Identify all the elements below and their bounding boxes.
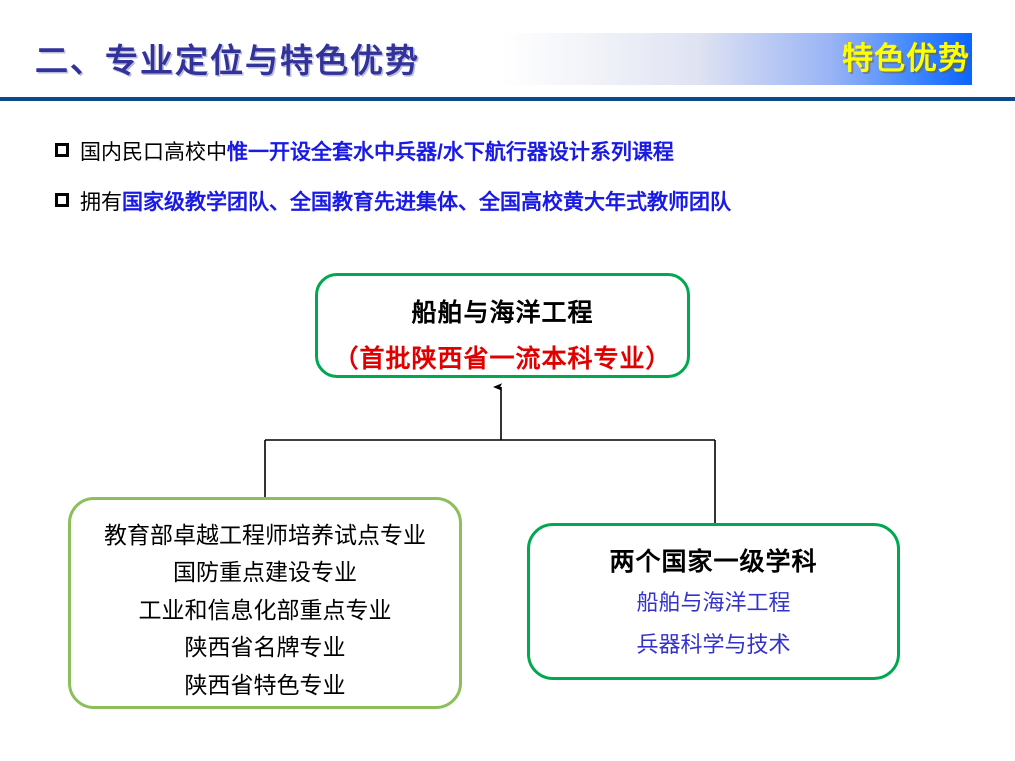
hollow-square-bullet-icon xyxy=(55,143,69,157)
bullet-item-2: 拥有国家级教学团队、全国教育先进集体、全国高校黄大年式教师团队 xyxy=(55,192,731,213)
right-node-heading: 两个国家一级学科 xyxy=(530,542,897,578)
header-banner-label: 特色优势 xyxy=(842,33,970,85)
bullet-1-plain-text: 国内民口高校中 xyxy=(80,141,227,164)
page-title: 二、专业定位与特色优势 xyxy=(35,34,420,82)
left-node-item: 教育部卓越工程师培养试点专业 xyxy=(71,517,459,554)
top-node-title: 船舶与海洋工程 xyxy=(318,293,687,329)
top-node-subtitle: （首批陕西省一流本科专业） xyxy=(318,339,687,375)
bullet-2-plain-text: 拥有 xyxy=(80,191,122,214)
left-node-item: 陕西省特色专业 xyxy=(71,667,459,704)
bullet-item-1: 国内民口高校中惟一开设全套水中兵器/水下航行器设计系列课程 xyxy=(55,142,674,163)
diagram-node-top: 船舶与海洋工程 （首批陕西省一流本科专业） xyxy=(315,273,690,378)
right-node-item: 兵器科学与技术 xyxy=(530,628,897,662)
right-node-item: 船舶与海洋工程 xyxy=(530,586,897,620)
left-node-item: 国防重点建设专业 xyxy=(71,554,459,591)
bullet-1-highlight-text: 惟一开设全套水中兵器/水下航行器设计系列课程 xyxy=(227,141,674,164)
hollow-square-bullet-icon xyxy=(55,193,69,207)
header-divider xyxy=(0,97,1015,101)
left-node-item: 工业和信息化部重点专业 xyxy=(71,592,459,629)
diagram-node-left: 教育部卓越工程师培养试点专业 国防重点建设专业 工业和信息化部重点专业 陕西省名… xyxy=(68,497,462,709)
left-node-item: 陕西省名牌专业 xyxy=(71,629,459,666)
slide-header: 特色优势 二、专业定位与特色优势 xyxy=(0,0,1015,100)
bullet-2-highlight-text: 国家级教学团队、全国教育先进集体、全国高校黄大年式教师团队 xyxy=(122,191,731,214)
diagram-node-right: 两个国家一级学科 船舶与海洋工程 兵器科学与技术 xyxy=(527,523,900,680)
